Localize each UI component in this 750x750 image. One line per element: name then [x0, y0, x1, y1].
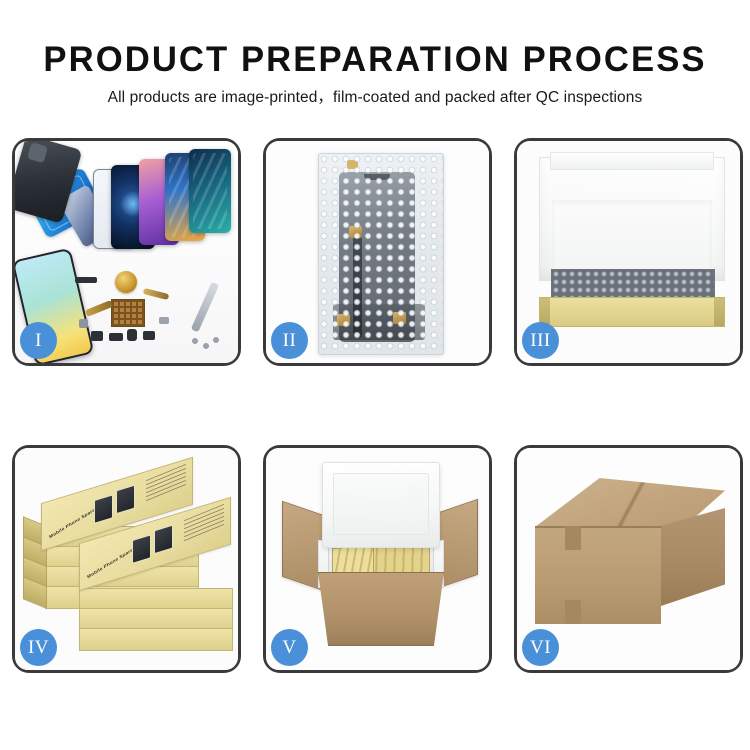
- box-stack: Mobile Phone Spare Parts Mobile Phone Sp…: [23, 468, 237, 664]
- process-step-1[interactable]: I: [12, 138, 241, 366]
- box-spec-lines-1: [146, 464, 186, 502]
- page-subtitle: All products are image-printed，film-coat…: [0, 90, 750, 106]
- carton-tape-lower: [565, 600, 581, 624]
- carton-front-face: [535, 526, 661, 624]
- bubble-wrap-bag: [318, 153, 444, 355]
- foam-cooler-lid: [322, 462, 440, 548]
- process-step-5[interactable]: V: [263, 445, 492, 673]
- inner-box-front: [539, 297, 725, 327]
- repair-tweezers: [191, 282, 219, 333]
- box-thumbnail-2a: [132, 534, 151, 564]
- screws: [191, 337, 221, 351]
- small-part-b: [109, 333, 123, 341]
- carton-tape-upper: [565, 526, 581, 550]
- inner-box-lid: [539, 157, 725, 281]
- small-part-e: [79, 319, 88, 328]
- flex-cable-left: [85, 300, 114, 317]
- screen-lower-section: [333, 304, 425, 340]
- carton-front-panel: [318, 572, 444, 646]
- step-badge-4: IV: [20, 629, 57, 666]
- wireless-charging-coil: [115, 271, 137, 293]
- phone-display-teal: [189, 149, 231, 233]
- small-part-d: [143, 331, 155, 340]
- page-title: PRODUCT PREPARATION PROCESS: [4, 42, 747, 77]
- speaker-module: [75, 277, 97, 283]
- small-part-f: [159, 317, 169, 324]
- screen-notch: [364, 174, 390, 180]
- step-badge-6: VI: [522, 629, 559, 666]
- connector-bottom-right: [393, 312, 406, 324]
- small-part-c: [127, 329, 137, 341]
- connector-top: [349, 226, 362, 238]
- small-part-a: [91, 331, 103, 341]
- box-thumbnail-1b: [116, 484, 135, 514]
- product-preparation-infographic: PRODUCT PREPARATION PROCESS All products…: [0, 0, 750, 750]
- step-badge-5: V: [271, 629, 308, 666]
- wrapped-screen: [339, 172, 415, 342]
- process-step-4[interactable]: Mobile Phone Spare Parts Mobile Phone Sp…: [12, 445, 241, 673]
- step-badge-1: I: [20, 322, 57, 359]
- stack-edge-7: [79, 628, 233, 651]
- process-step-grid: I II: [12, 138, 740, 673]
- yellow-tape: [347, 160, 358, 169]
- step-badge-2: II: [271, 322, 308, 359]
- chip-board: [111, 299, 145, 327]
- step-badge-3: III: [522, 322, 559, 359]
- box-thumbnail-2b: [154, 524, 173, 554]
- screen-flex-cable: [353, 230, 362, 338]
- carton-front-seam: [535, 526, 661, 528]
- header: PRODUCT PREPARATION PROCESS All products…: [0, 0, 750, 106]
- process-step-6[interactable]: VI: [514, 445, 743, 673]
- process-step-2[interactable]: II: [263, 138, 492, 366]
- connector-bottom-left: [337, 314, 350, 326]
- box-thumbnail-1a: [94, 494, 113, 524]
- process-step-3[interactable]: III: [514, 138, 743, 366]
- box-spec-lines-2: [184, 504, 224, 542]
- flex-cable-right: [143, 288, 170, 300]
